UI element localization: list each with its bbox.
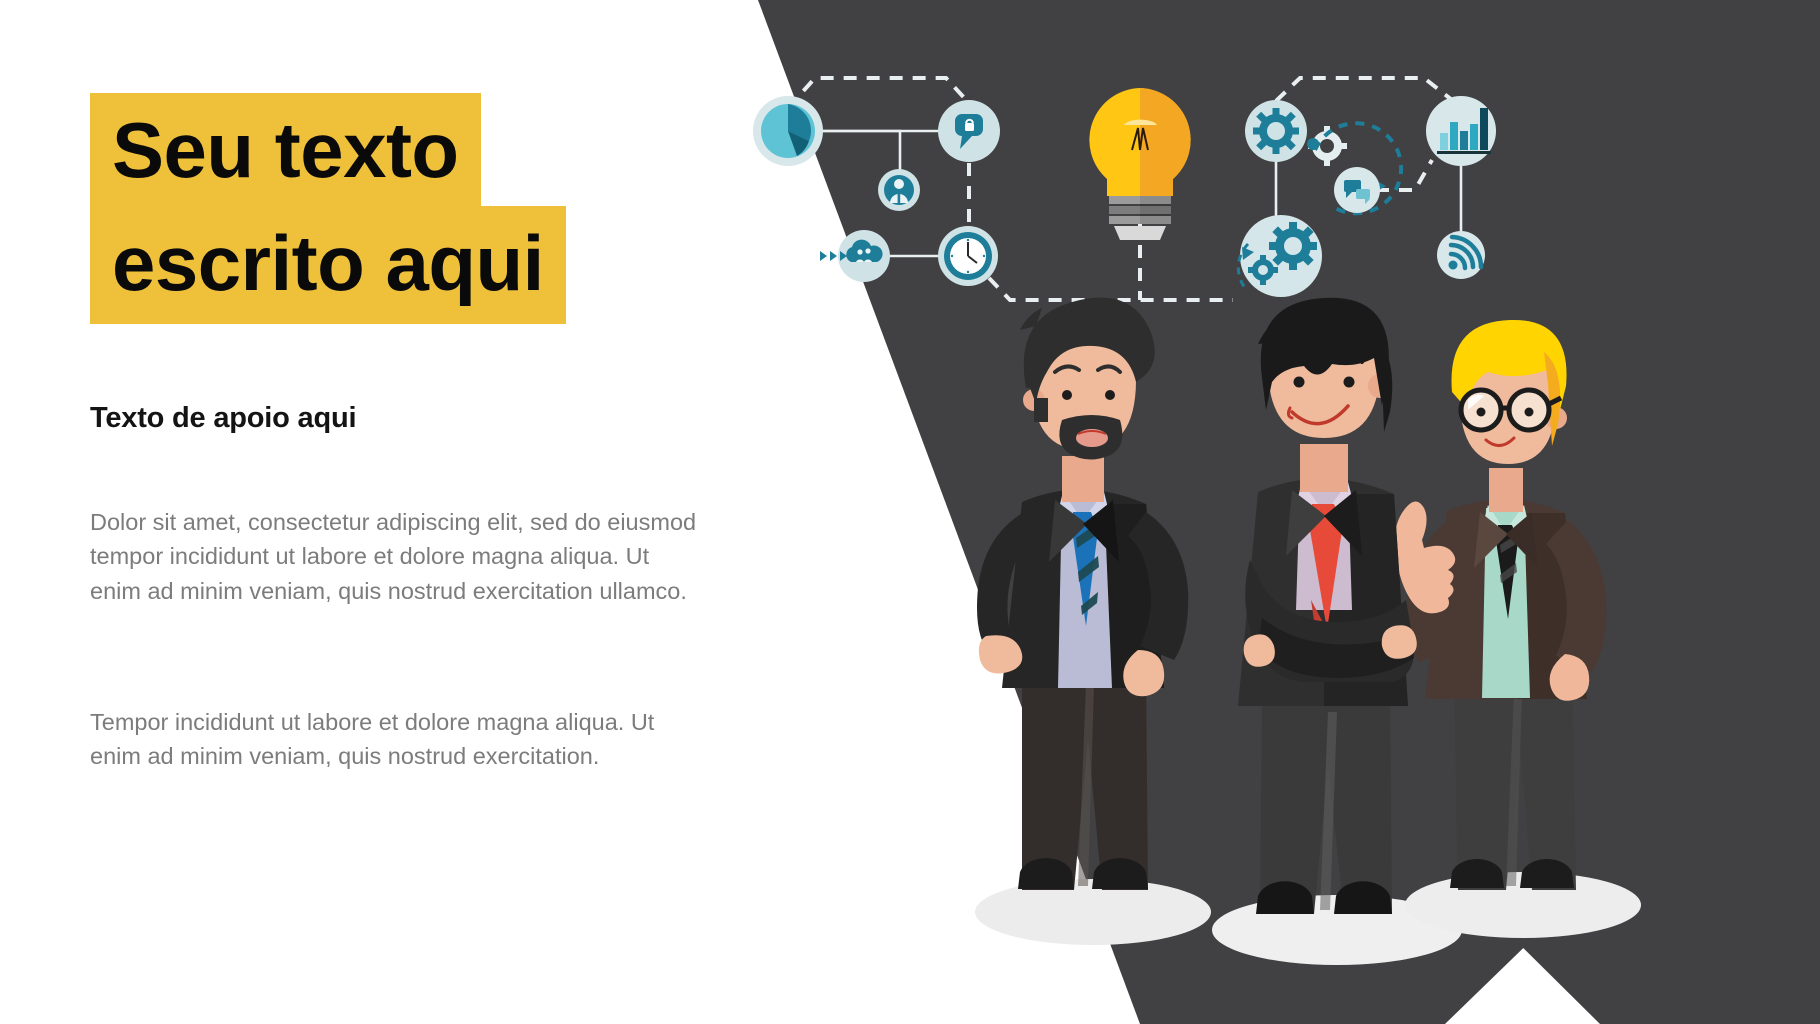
lock-message-icon	[938, 100, 1000, 162]
clock-icon	[938, 226, 998, 286]
body-paragraph-1: Dolor sit amet, consectetur adipiscing e…	[90, 505, 700, 608]
cloud-people-icon	[838, 230, 890, 282]
bar-chart-icon	[1426, 96, 1496, 166]
person-center	[1238, 298, 1417, 914]
title-line-2: escrito aqui	[90, 206, 566, 324]
shadow-left	[975, 879, 1211, 945]
chat-bubbles-icon	[1334, 167, 1380, 213]
rss-signal-icon	[1437, 231, 1485, 279]
pie-chart-icon	[753, 96, 823, 166]
double-gears-icon	[1238, 215, 1322, 297]
body-paragraph-2: Tempor incididunt ut labore et dolore ma…	[90, 705, 700, 774]
thumbs-up-hand	[1394, 501, 1455, 613]
slide-canvas: Seu texto escrito aqui Texto de apoio aq…	[0, 0, 1820, 1024]
title-line-1: Seu texto	[90, 93, 481, 211]
chat-orbit-decoration	[1307, 123, 1401, 213]
text-content-column: Seu texto escrito aqui Texto de apoio aq…	[0, 0, 760, 1024]
user-profile-icon	[878, 169, 920, 211]
glasses-icon	[1461, 390, 1561, 430]
subheading: Texto de apoio aqui	[90, 402, 356, 435]
shadow-right	[1405, 872, 1641, 938]
connector-lines	[788, 78, 1461, 300]
lightbulb-icon	[1089, 88, 1190, 240]
shadow-center	[1212, 895, 1462, 965]
arrows-marker-icon	[820, 251, 847, 261]
gear-icon	[1245, 100, 1307, 162]
person-left	[977, 298, 1188, 890]
small-gear-icon	[1308, 126, 1347, 166]
person-right	[1394, 320, 1606, 890]
